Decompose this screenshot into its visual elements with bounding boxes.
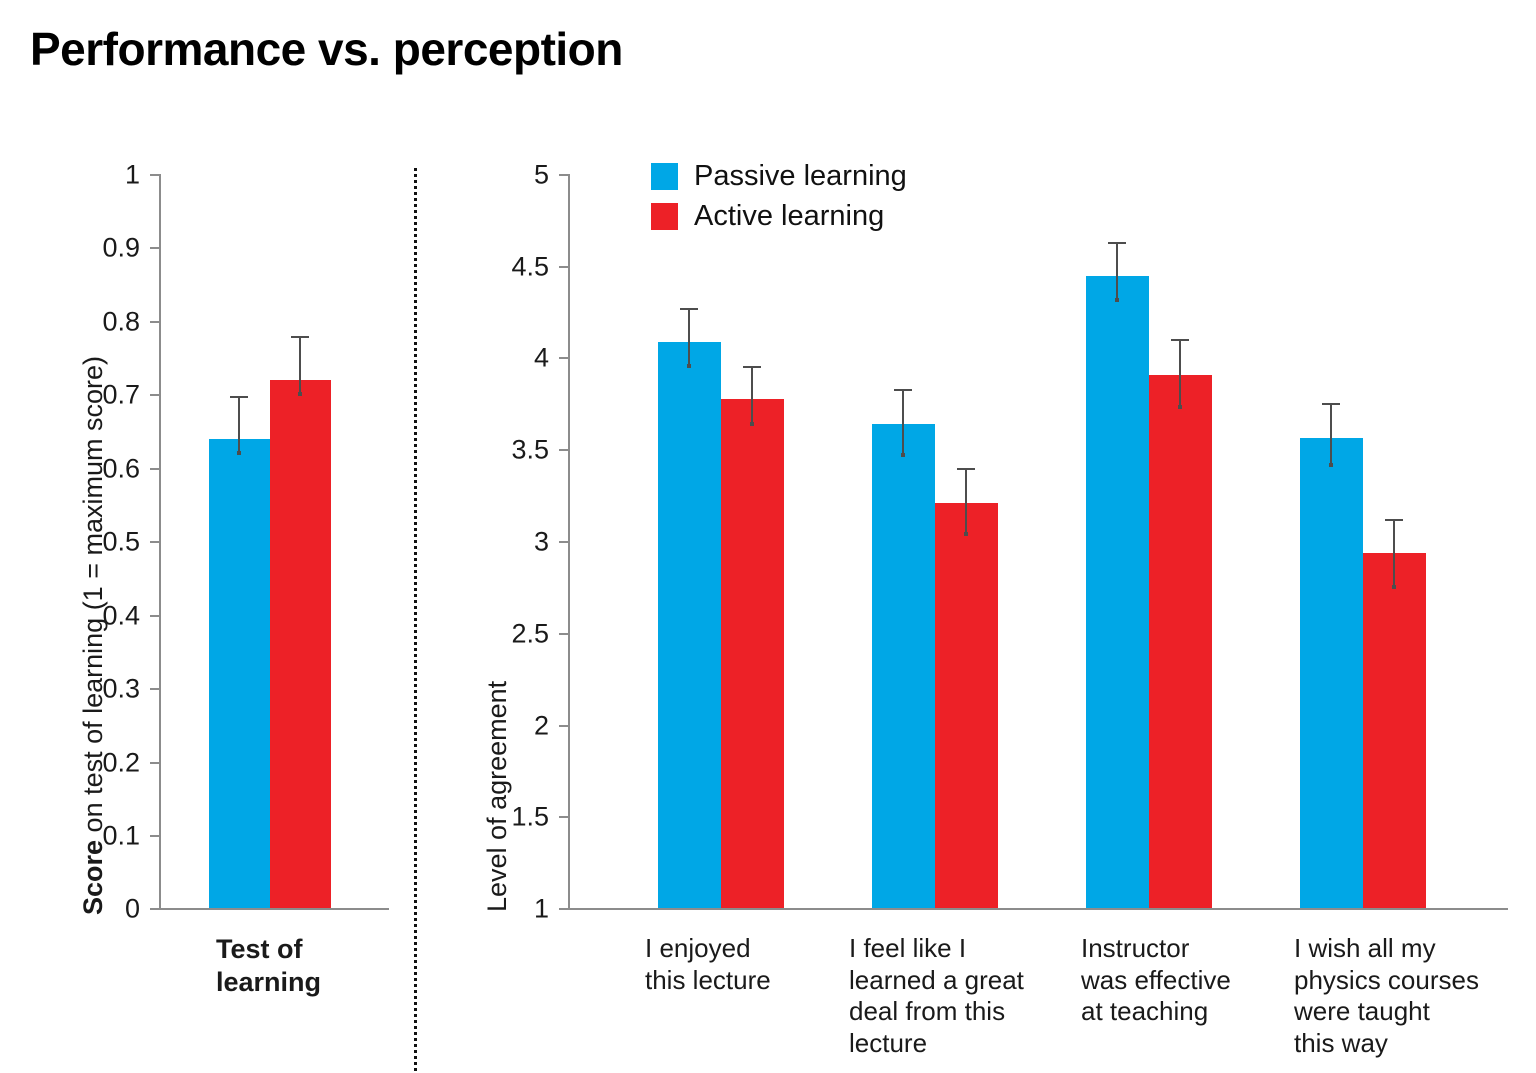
right-panel-level-of-agreement: Level of agreement 5 4.5 4 3.5 3 2.5 2 1… [0,0,1536,1073]
errorbar-enjoyed-lecture-active [751,366,753,424]
right-category-label-instructor-effective-line1: Instructor [1081,933,1296,965]
errorbar-cap-learned-great-deal-active [957,468,975,470]
errorbar-dot-wish-all-courses-passive [1329,463,1333,467]
errorbar-instructor-effective-passive [1116,242,1118,300]
right-category-label-enjoyed-lecture: I enjoyed this lecture [645,933,845,996]
errorbar-cap-wish-all-courses-passive [1322,403,1340,405]
errorbar-wish-all-courses-passive [1330,403,1332,465]
errorbar-instructor-effective-active [1179,339,1181,407]
right-category-label-wish-all-courses-line2: physics courses [1294,965,1524,997]
right-category-label-instructor-effective-line2: was effective [1081,965,1296,997]
right-panel-x-axis-spine [568,908,1508,910]
bar-enjoyed-lecture-active[interactable] [721,399,784,908]
errorbar-cap-instructor-effective-passive [1108,242,1126,244]
errorbar-dot-instructor-effective-active [1178,405,1182,409]
right-category-label-learned-great-deal-line2: learned a great [849,965,1064,997]
right-category-label-wish-all-courses-line3: were taught [1294,996,1524,1028]
right-category-label-learned-great-deal: I feel like I learned a great deal from … [849,933,1064,1060]
errorbar-learned-great-deal-active [965,468,967,534]
errorbar-wish-all-courses-active [1393,519,1395,587]
right-category-label-wish-all-courses-line4: this way [1294,1028,1524,1060]
right-category-label-enjoyed-lecture-line2: this lecture [645,965,845,997]
right-tick-1 [559,908,570,910]
right-category-label-learned-great-deal-line4: lecture [849,1028,1064,1060]
errorbar-cap-enjoyed-lecture-passive [680,308,698,310]
bar-wish-all-courses-active[interactable] [1363,553,1426,908]
errorbar-dot-enjoyed-lecture-active [750,422,754,426]
right-category-label-learned-great-deal-line1: I feel like I [849,933,1064,965]
right-category-label-instructor-effective-line3: at teaching [1081,996,1296,1028]
right-category-label-instructor-effective: Instructor was effective at teaching [1081,933,1296,1028]
errorbar-cap-enjoyed-lecture-active [743,366,761,368]
bar-learned-great-deal-passive[interactable] [872,424,935,908]
errorbar-cap-instructor-effective-active [1171,339,1189,341]
errorbar-dot-learned-great-deal-active [964,532,968,536]
right-category-label-wish-all-courses: I wish all my physics courses were taugh… [1294,933,1524,1060]
chart-canvas: Performance vs. perception Score on test… [0,0,1536,1073]
bar-learned-great-deal-active[interactable] [935,503,998,908]
bar-instructor-effective-active[interactable] [1149,375,1212,908]
errorbar-dot-wish-all-courses-active [1392,585,1396,589]
right-category-label-learned-great-deal-line3: deal from this [849,996,1064,1028]
errorbar-cap-learned-great-deal-passive [894,389,912,391]
bar-enjoyed-lecture-passive[interactable] [658,342,721,908]
right-plot-area [0,175,1536,908]
errorbar-cap-wish-all-courses-active [1385,519,1403,521]
right-category-label-wish-all-courses-line1: I wish all my [1294,933,1524,965]
bar-instructor-effective-passive[interactable] [1086,276,1149,908]
errorbar-learned-great-deal-passive [902,389,904,455]
right-category-label-enjoyed-lecture-line1: I enjoyed [645,933,845,965]
errorbar-enjoyed-lecture-passive [688,308,690,366]
errorbar-dot-learned-great-deal-passive [901,453,905,457]
errorbar-dot-instructor-effective-passive [1115,298,1119,302]
bar-wish-all-courses-passive[interactable] [1300,438,1363,908]
errorbar-dot-enjoyed-lecture-passive [687,364,691,368]
